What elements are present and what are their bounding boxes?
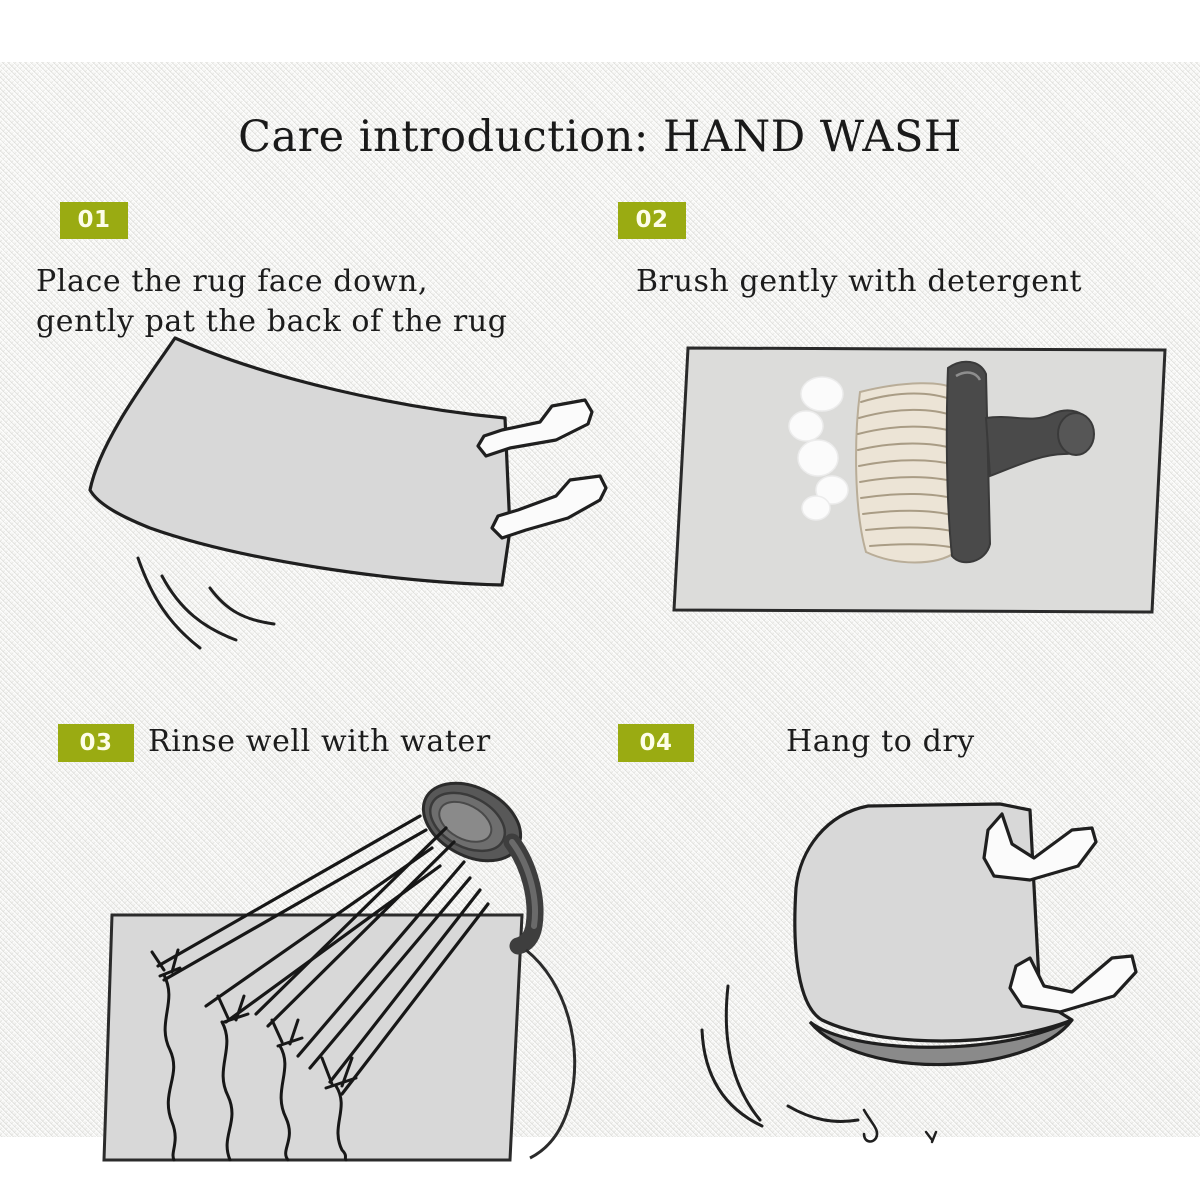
illustration-rinse-with-water (60, 770, 640, 1160)
illustration-rug-face-down (40, 320, 620, 660)
step-badge-03: 03 (58, 724, 134, 762)
care-instructions-page: Care introduction: HAND WASH 01 Place th… (0, 0, 1200, 1200)
illustration-brush-with-detergent (660, 330, 1190, 630)
step-text-03: Rinse well with water (148, 722, 598, 762)
page-title: Care introduction: HAND WASH (0, 112, 1200, 162)
illustration-hang-to-dry (700, 780, 1190, 1170)
step-text-04: Hang to dry (786, 722, 1186, 762)
step-badge-01: 01 (60, 202, 128, 239)
step-badge-04: 04 (618, 724, 694, 762)
step-badge-02: 02 (618, 202, 686, 239)
step-text-02: Brush gently with detergent (636, 262, 1196, 302)
